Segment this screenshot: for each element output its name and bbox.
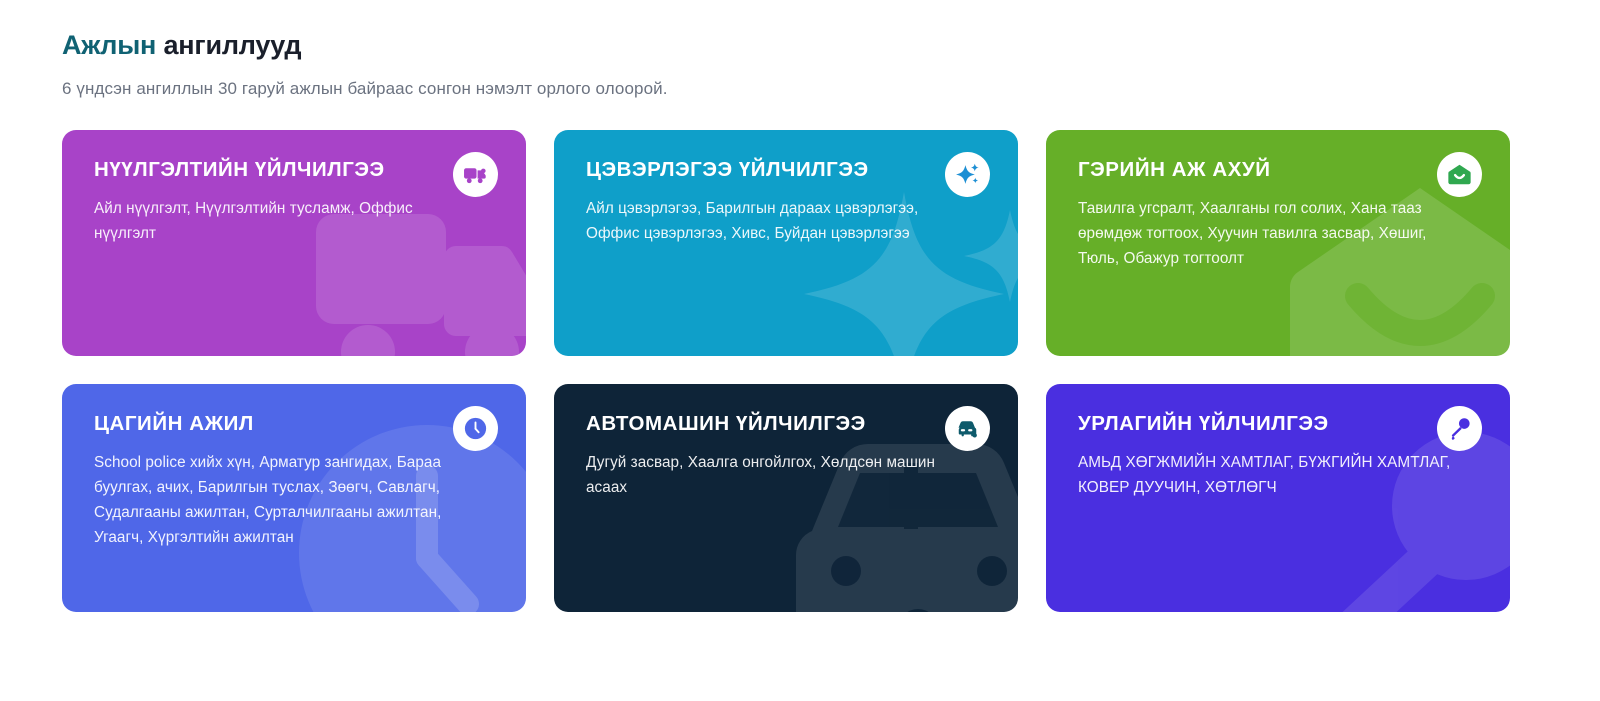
card-description: Айл нүүлгэлт, Нүүлгэлтийн тусламж, Оффис… — [94, 196, 476, 246]
card-description: Айл цэвэрлэгээ, Барилгын дараах цэвэрлэг… — [586, 196, 968, 246]
card-title: АВТОМАШИН ҮЙЛЧИЛГЭЭ — [586, 412, 916, 436]
car-icon-badge — [945, 406, 990, 451]
page-title-accent: Ажлын — [62, 30, 156, 60]
category-card-moving[interactable]: НҮҮЛГЭЛТИЙН ҮЙЛЧИЛГЭЭ Айл нүүлгэлт, Нүүл… — [62, 130, 526, 356]
truck-icon-badge — [453, 152, 498, 197]
car-repair-icon — [955, 416, 980, 441]
card-title: ЦЭВЭРЛЭГЭЭ ҮЙЛЧИЛГЭЭ — [586, 158, 916, 182]
clock-icon-badge — [453, 406, 498, 451]
job-categories-page: Ажлын ангиллууд 6 үндсэн ангиллын 30 гар… — [0, 0, 1600, 612]
sparkle-icon-badge — [945, 152, 990, 197]
category-card-grid: НҮҮЛГЭЛТИЙН ҮЙЛЧИЛГЭЭ Айл нүүлгэлт, Нүүл… — [62, 130, 1538, 612]
microphone-icon — [1447, 416, 1472, 441]
page-title-rest: ангиллууд — [163, 30, 301, 60]
clock-icon — [463, 416, 488, 441]
house-smile-icon — [1447, 162, 1472, 187]
category-card-arts[interactable]: УРЛАГИЙН ҮЙЛЧИЛГЭЭ АМЬД ХӨГЖМИЙН ХАМТЛАГ… — [1046, 384, 1510, 612]
category-card-hourly[interactable]: ЦАГИЙН АЖИЛ School police хийх хүн, Арма… — [62, 384, 526, 612]
card-description: Тавилга угсралт, Хаалганы гол солих, Хан… — [1078, 196, 1460, 271]
truck-icon — [463, 162, 488, 187]
card-title: НҮҮЛГЭЛТИЙН ҮЙЛЧИЛГЭЭ — [94, 158, 424, 182]
category-card-auto[interactable]: АВТОМАШИН ҮЙЛЧИЛГЭЭ Дугуй засвар, Хаалга… — [554, 384, 1018, 612]
card-title: ЦАГИЙН АЖИЛ — [94, 412, 424, 436]
house-icon-badge — [1437, 152, 1482, 197]
card-title: УРЛАГИЙН ҮЙЛЧИЛГЭЭ — [1078, 412, 1408, 436]
card-description: АМЬД ХӨГЖМИЙН ХАМТЛАГ, БҮЖГИЙН ХАМТЛАГ, … — [1078, 450, 1460, 500]
page-title: Ажлын ангиллууд — [62, 30, 1538, 61]
page-subtitle: 6 үндсэн ангиллын 30 гаруй ажлын байраас… — [62, 79, 1538, 99]
card-description: School police хийх хүн, Арматур зангидах… — [94, 450, 476, 550]
card-title: ГЭРИЙН АЖ АХУЙ — [1078, 158, 1408, 182]
category-card-household[interactable]: ГЭРИЙН АЖ АХУЙ Тавилга угсралт, Хаалганы… — [1046, 130, 1510, 356]
category-card-cleaning[interactable]: ЦЭВЭРЛЭГЭЭ ҮЙЛЧИЛГЭЭ Айл цэвэрлэгээ, Бар… — [554, 130, 1018, 356]
card-description: Дугуй засвар, Хаалга онгойлгох, Хөлдсөн … — [586, 450, 968, 500]
sparkle-icon — [955, 162, 980, 187]
microphone-icon-badge — [1437, 406, 1482, 451]
